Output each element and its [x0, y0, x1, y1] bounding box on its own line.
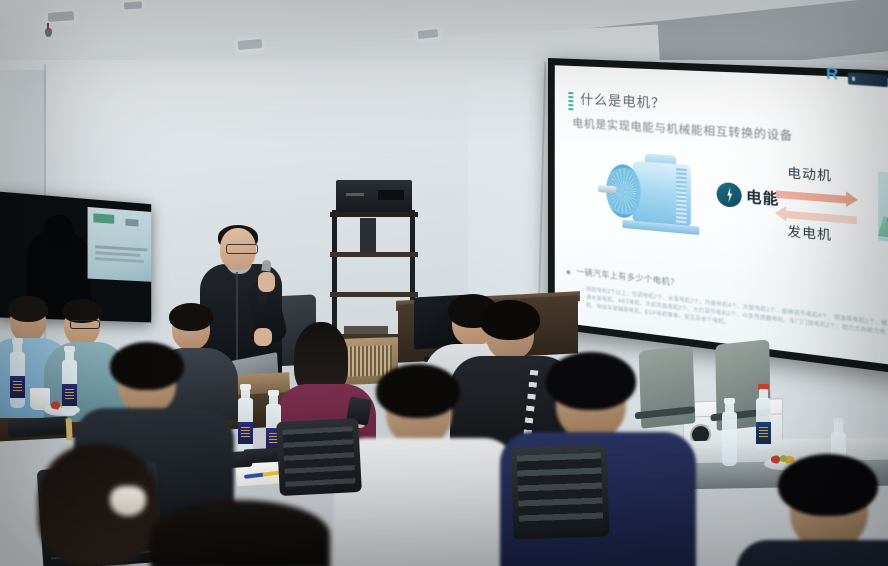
generator-label: 发电机: [787, 222, 832, 245]
lightning-bolt-icon: [717, 182, 742, 208]
chair-slats: [517, 453, 604, 530]
slide-title: 什么是电机？: [580, 89, 665, 113]
presenter-hand: [258, 272, 275, 292]
downlight-1: [48, 11, 75, 22]
electric-motor-illustration: [598, 144, 710, 248]
audience-member: [360, 376, 490, 556]
conversion-arrows: 电动机 发电机: [776, 167, 878, 248]
chair-slats: [283, 426, 356, 488]
audience-hair: [546, 352, 636, 410]
downlight-2: [124, 1, 142, 9]
audience-member: [760, 470, 888, 566]
shelf-item: [360, 218, 376, 252]
audience-hair: [480, 300, 540, 340]
audience-torso: [736, 540, 888, 566]
audience-hair: [778, 454, 878, 516]
motor-label: 电动机: [787, 163, 832, 185]
water-bottle: [756, 398, 771, 450]
notebook: [8, 416, 69, 437]
water-bottle: [10, 352, 25, 408]
logo-letter: R: [826, 64, 839, 84]
water-bottle: [62, 360, 77, 416]
audience-hair: [169, 303, 213, 331]
generator-illustration: [878, 172, 888, 247]
slide-title-decoration: [568, 92, 573, 110]
shelf-top-equipment: [336, 180, 412, 212]
audience-torso: [334, 438, 516, 566]
audience-hair: [376, 364, 460, 418]
water-bottle: [722, 412, 737, 466]
presenter-hand-lower: [254, 328, 272, 346]
slide-subtitle: 电机是实现电能与机械能相互转换的设备: [572, 114, 792, 144]
projection-screen[interactable]: 什么是电机？ 电机是实现电能与机械能相互转换的设备 电能 电动机 发电机: [548, 58, 888, 378]
face-mask: [110, 486, 146, 516]
audience-hair: [8, 296, 48, 322]
tv-slide-reflection: [88, 207, 152, 282]
slide-content: 什么是电机？ 电机是实现电能与机械能相互转换的设备 电能 电动机 发电机: [555, 65, 888, 369]
sprinkler-head: [45, 28, 52, 37]
wall-brand-logo: R: [826, 64, 888, 94]
electrical-energy-badge: 电能: [717, 182, 780, 212]
logo-chip: [848, 72, 888, 87]
foreground-attendee-right: [150, 500, 330, 566]
glasses-icon: [70, 320, 100, 329]
conference-room-photo: 什么是电机？ 电机是实现电能与机械能相互转换的设备 电能 电动机 发电机: [0, 0, 888, 566]
glasses-icon: [226, 244, 258, 254]
audience-hair: [110, 342, 184, 390]
arrow-right-icon: [776, 190, 847, 203]
